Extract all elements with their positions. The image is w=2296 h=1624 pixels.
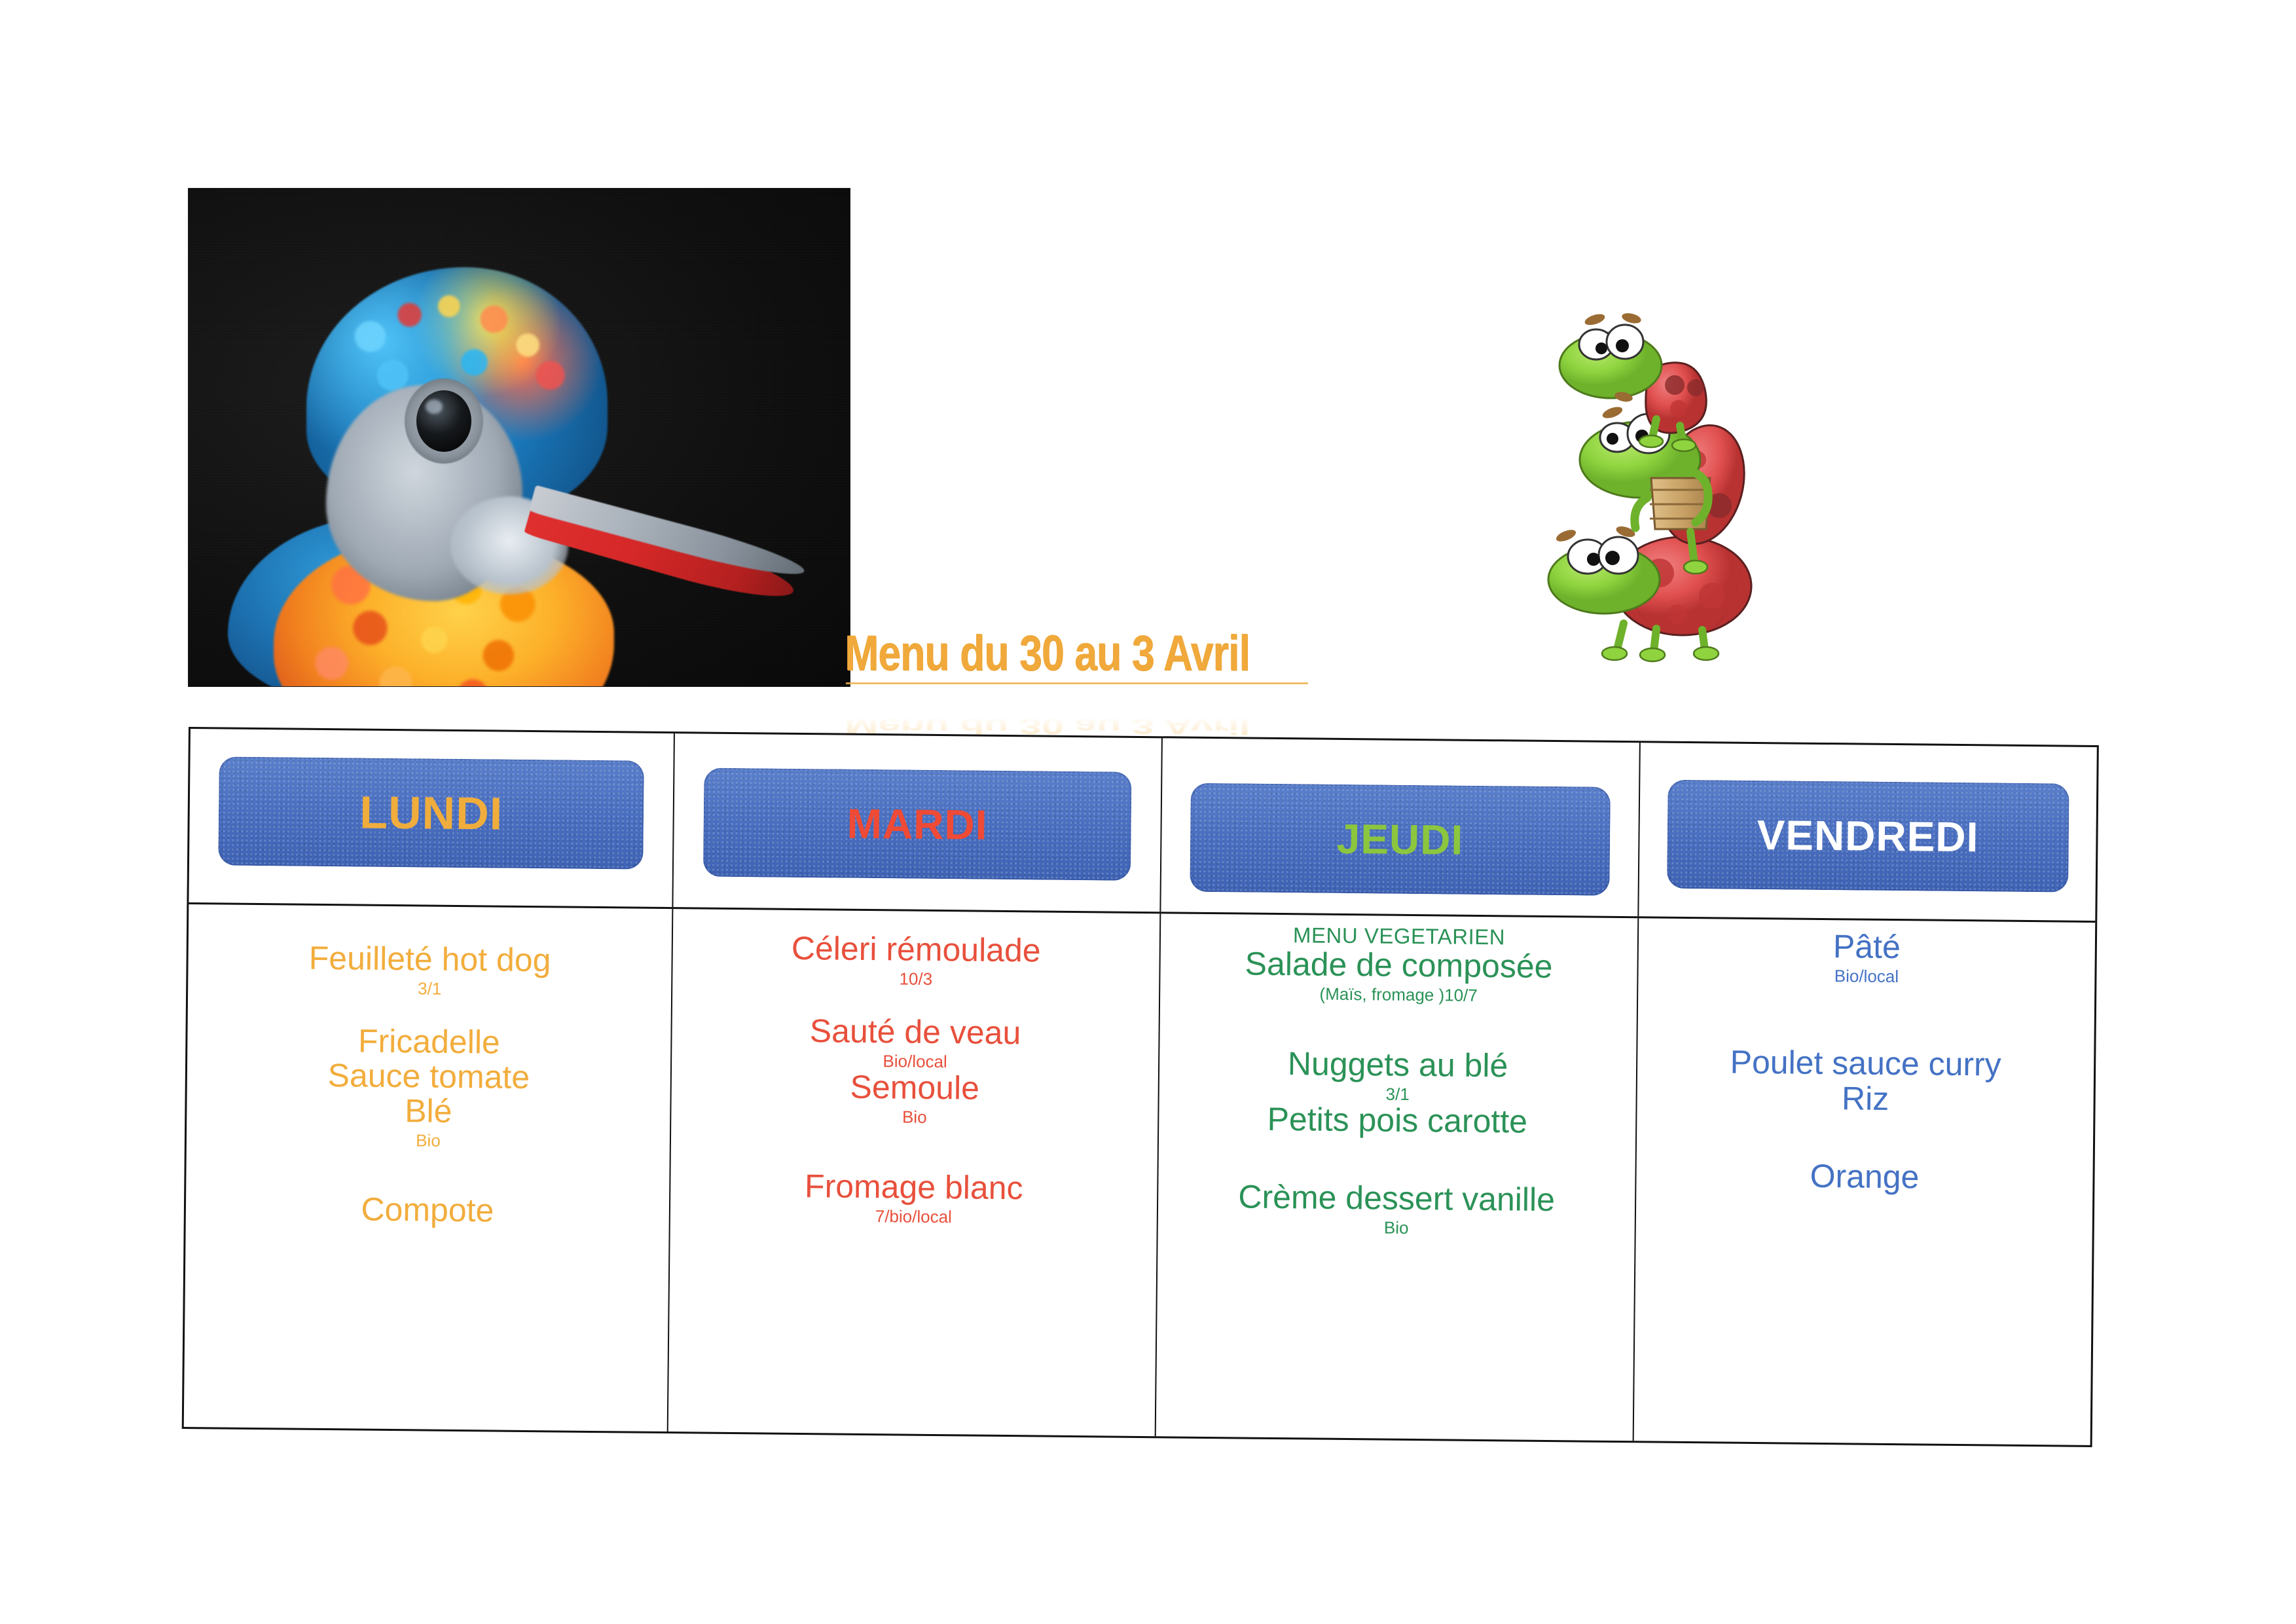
dish-vendredi-main: Poulet sauce curry: [1645, 1043, 2086, 1083]
day-chip-vendredi[interactable]: VENDREDI: [1667, 780, 2069, 893]
day-header-cell-lundi: LUNDI: [189, 729, 675, 907]
menu-items-vendredi: Pâté Bio/local Poulet sauce curry Riz Or…: [1634, 918, 2096, 1445]
day-chip-lundi[interactable]: LUNDI: [218, 756, 644, 869]
day-label-lundi: LUNDI: [359, 790, 503, 837]
dish-vendredi-side: Riz: [1645, 1079, 2085, 1118]
dish-mardi-side: Semoule: [680, 1068, 1150, 1107]
ladybug-trio-clipart: [1525, 288, 1787, 668]
dish-jeudi-main: Nuggets au blé: [1167, 1045, 1628, 1084]
day-label-jeudi: JEUDI: [1336, 818, 1463, 861]
day-header-cell-mardi: MARDI: [673, 733, 1163, 912]
dish-mardi-starter: Céleri rémoulade: [681, 930, 1152, 969]
hummingbird-photo: [189, 189, 850, 686]
day-header-cell-vendredi: VENDREDI: [1639, 743, 2097, 921]
day-label-vendredi: VENDREDI: [1757, 814, 1978, 858]
day-chip-jeudi[interactable]: JEUDI: [1190, 783, 1610, 896]
day-chip-mardi[interactable]: MARDI: [702, 768, 1131, 881]
menu-title-underline: [846, 682, 1308, 684]
menu-cell-mardi: Céleri rémoulade 10/3 Sauté de veau Bio/…: [668, 909, 1161, 1436]
dish-lundi-main: Fricadelle: [195, 1022, 663, 1061]
dish-vendredi-starter: Pâté: [1647, 927, 2087, 966]
bird-eye: [416, 390, 471, 452]
dish-lundi-sauce: Sauce tomate: [195, 1057, 663, 1096]
note-jeudi-dessert: Bio: [1166, 1217, 1627, 1240]
dish-vendredi-dessert: Orange: [1644, 1157, 2085, 1196]
menu-cell-lundi: Feuilleté hot dog 3/1 Fricadelle Sauce t…: [184, 904, 674, 1431]
dish-jeudi-starter: Salade de composée: [1168, 946, 1629, 985]
dish-mardi-dessert: Fromage blanc: [678, 1168, 1149, 1207]
menu-header-row: LUNDI MARDI JEUDI VENDREDI: [189, 729, 2096, 923]
ladybug-bottom: [1548, 525, 1751, 661]
dish-mardi-main: Sauté de veau: [680, 1012, 1150, 1052]
dish-lundi-side: Blé: [194, 1092, 662, 1131]
menu-items-mardi: Céleri rémoulade 10/3 Sauté de veau Bio/…: [668, 909, 1160, 1436]
menu-cell-jeudi: MENU VEGETARIEN Salade de composée (Maïs…: [1156, 913, 1639, 1441]
dish-jeudi-side: Petits pois carotte: [1167, 1101, 1628, 1141]
menu-body-row: Feuilleté hot dog 3/1 Fricadelle Sauce t…: [184, 904, 2096, 1445]
menu-items-lundi: Feuilleté hot dog 3/1 Fricadelle Sauce t…: [184, 904, 672, 1431]
menu-cell-vendredi: Pâté Bio/local Poulet sauce curry Riz Or…: [1634, 918, 2096, 1445]
day-header-cell-jeudi: JEUDI: [1161, 738, 1641, 916]
menu-title: Menu du 30 au 3 Avril Menu du 30 au 3 Av…: [845, 629, 1434, 720]
menu-title-text: Menu du 30 au 3 Avril: [845, 629, 1328, 678]
dish-lundi-starter: Feuilleté hot dog: [196, 940, 663, 979]
day-label-mardi: MARDI: [847, 803, 987, 846]
dish-lundi-dessert: Compote: [194, 1190, 661, 1230]
note-mardi-dessert: 7/bio/local: [678, 1205, 1149, 1228]
bird-eye-highlight: [426, 399, 443, 414]
menu-items-jeudi: MENU VEGETARIEN Salade de composée (Maïs…: [1156, 913, 1638, 1441]
dish-jeudi-dessert: Crème dessert vanille: [1166, 1179, 1627, 1219]
menu-table: LUNDI MARDI JEUDI VENDREDI Feuilleté hot…: [182, 727, 2099, 1447]
vegetarian-menu-header: MENU VEGETARIEN: [1169, 923, 1630, 949]
